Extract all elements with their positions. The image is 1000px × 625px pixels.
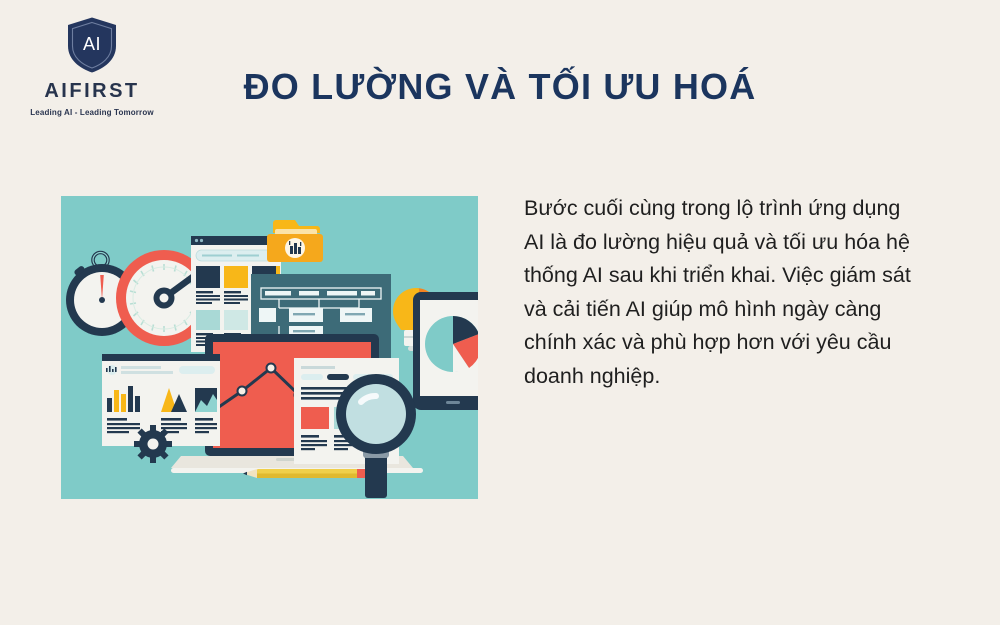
mini-trend-chart: [195, 388, 217, 412]
folder-icon: [267, 220, 323, 262]
shield-label: AI: [83, 34, 101, 54]
tablet-pie-chart: [413, 292, 478, 410]
pencil-icon: [243, 469, 365, 478]
analytics-illustration: [61, 196, 478, 499]
paragraph-text: Bước cuối cùng trong lộ trình ứng dụng A…: [524, 192, 916, 393]
page-title: ĐO LƯỜNG VÀ TỐI ƯU HOÁ: [0, 66, 1000, 108]
brand-tagline: Leading AI - Leading Tomorrow: [30, 108, 153, 117]
gear-icon: [134, 425, 172, 463]
body-paragraph: Bước cuối cùng trong lộ trình ứng dụng A…: [524, 192, 916, 393]
